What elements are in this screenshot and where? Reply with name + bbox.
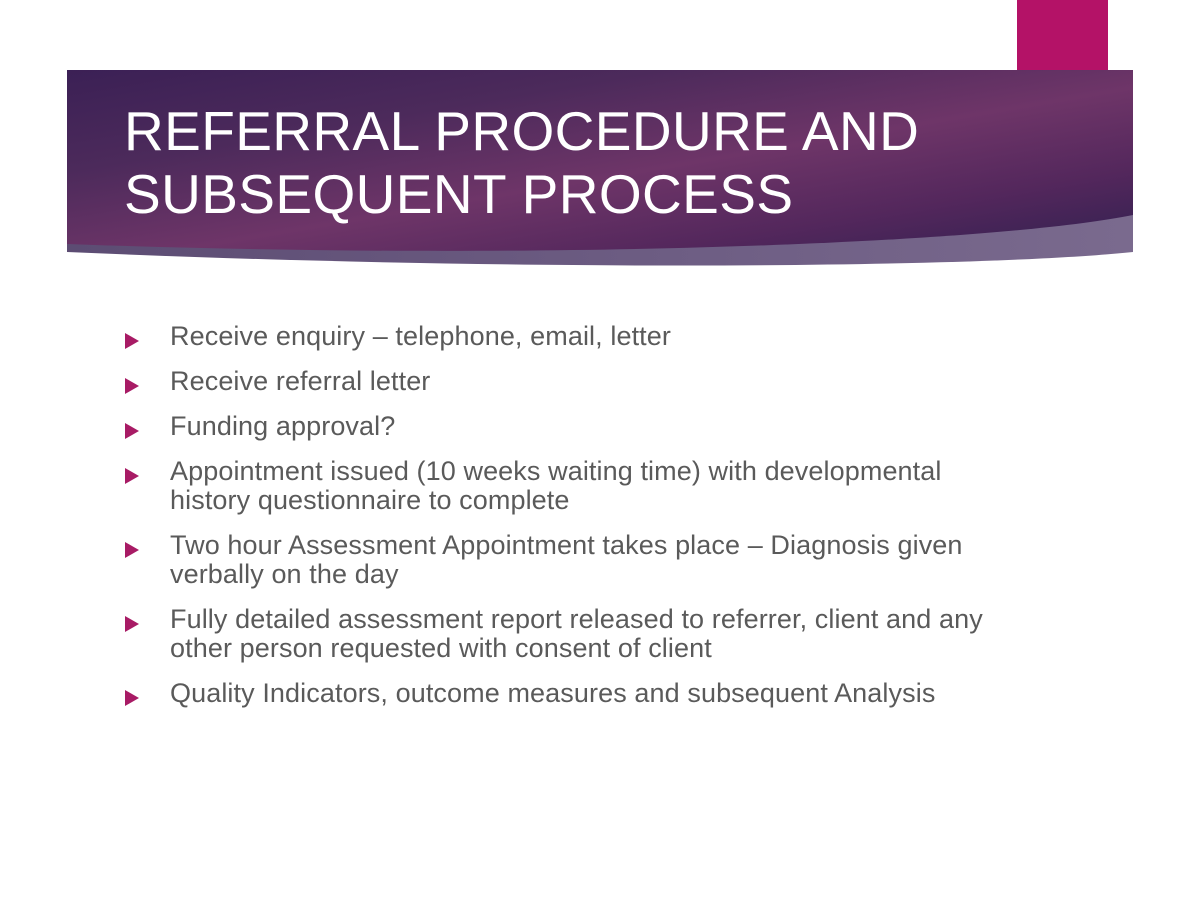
accent-pink-tab bbox=[1017, 0, 1108, 144]
list-item-label: Fully detailed assessment report release… bbox=[170, 605, 1020, 663]
triangle-bullet-icon bbox=[125, 690, 139, 706]
triangle-bullet-icon bbox=[125, 468, 139, 484]
bullet-list: Receive enquiry – telephone, email, lett… bbox=[120, 322, 1020, 708]
list-item-label: Quality Indicators, outcome measures and… bbox=[170, 679, 1020, 708]
list-item: Receive referral letter bbox=[120, 367, 1020, 396]
page-title: REFERRAL PROCEDURE AND SUBSEQUENT PROCES… bbox=[124, 100, 984, 226]
list-item-label: Receive enquiry – telephone, email, lett… bbox=[170, 322, 1020, 351]
list-item-label: Receive referral letter bbox=[170, 367, 1020, 396]
title-line-2: SUBSEQUENT PROCESS bbox=[124, 163, 984, 226]
triangle-bullet-icon bbox=[125, 616, 139, 632]
slide-canvas: REFERRAL PROCEDURE AND SUBSEQUENT PROCES… bbox=[0, 0, 1200, 900]
list-item-label: Two hour Assessment Appointment takes pl… bbox=[170, 531, 1020, 589]
list-item: Quality Indicators, outcome measures and… bbox=[120, 679, 1020, 708]
triangle-bullet-icon bbox=[125, 378, 139, 394]
list-item: Fully detailed assessment report release… bbox=[120, 605, 1020, 663]
title-line-1: REFERRAL PROCEDURE AND bbox=[124, 100, 984, 163]
triangle-bullet-icon bbox=[125, 542, 139, 558]
list-item: Funding approval? bbox=[120, 412, 1020, 441]
list-item: Receive enquiry – telephone, email, lett… bbox=[120, 322, 1020, 351]
list-item: Two hour Assessment Appointment takes pl… bbox=[120, 531, 1020, 589]
triangle-bullet-icon bbox=[125, 423, 139, 439]
list-item-label: Appointment issued (10 weeks waiting tim… bbox=[170, 457, 1020, 515]
list-item-label: Funding approval? bbox=[170, 412, 1020, 441]
list-item: Appointment issued (10 weeks waiting tim… bbox=[120, 457, 1020, 515]
triangle-bullet-icon bbox=[125, 333, 139, 349]
